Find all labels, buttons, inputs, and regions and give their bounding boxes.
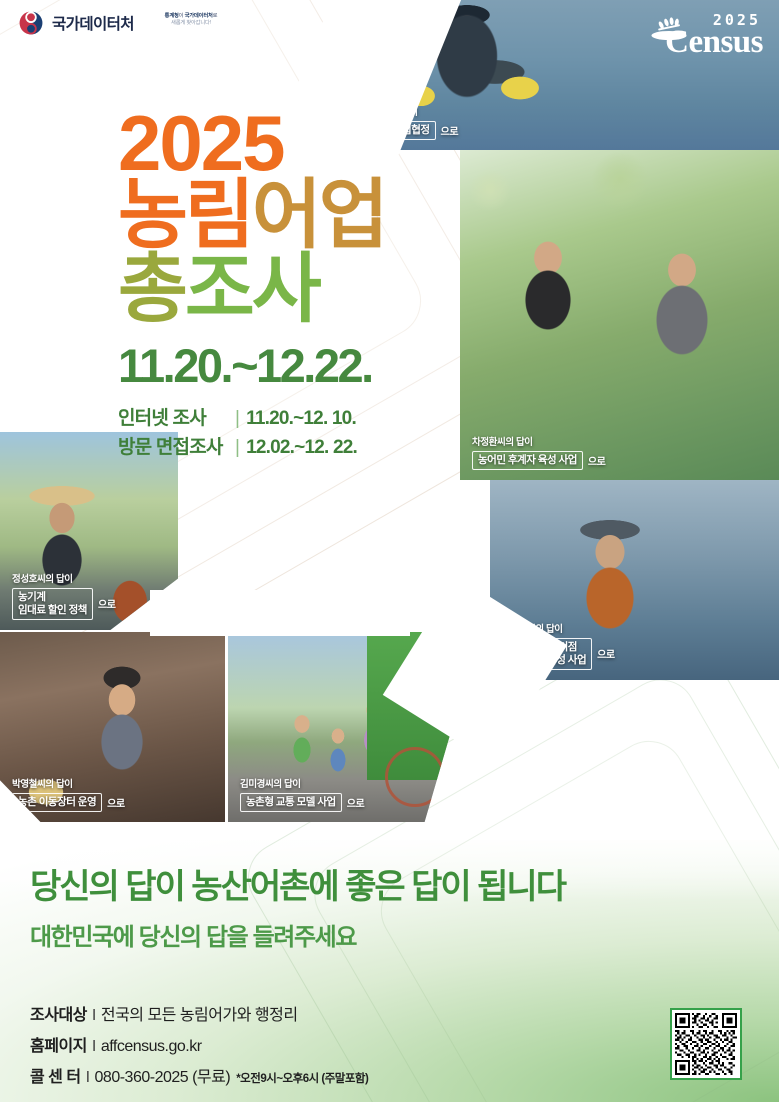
photo-caption: 정성호씨의 답이 농기계 임대료 할인 정책 으로	[12, 571, 116, 620]
headline-char: 사	[252, 254, 319, 326]
footer-row-callcenter: 콜 센 터 I 080-360-2025 (무료) *오전9시~오후6시 (주말…	[30, 1062, 368, 1093]
caption-tail: 으로	[107, 795, 125, 810]
photo-greenhouse-farmers: 차정환씨의 답이 농어민 후계자 육성 사업 으로	[460, 150, 779, 480]
poster-header: 국가데이터처 통계청이 국가데이터처로 새롭게 찾아갑니다! 2025 Cens	[0, 0, 779, 58]
schedule-value: 12.02.~12. 22.	[246, 434, 357, 463]
schedule-separator: |	[235, 405, 239, 434]
caption-person: 차정환씨의 답이	[472, 434, 605, 448]
schedule-separator: |	[235, 434, 239, 463]
tagline-em-2: 국가데이터처	[185, 13, 213, 19]
caption-policy: 수산물 산지 거점 유통센터 육성 사업	[502, 638, 592, 670]
taegeuk-icon	[18, 10, 44, 36]
headline-date-range: 11.20.~12.22.	[118, 338, 386, 393]
footer-label: 조사대상	[30, 1000, 87, 1031]
caption-person: 김미경씨의 답이	[240, 776, 364, 790]
caption-tail: 으로	[441, 123, 459, 138]
footer-info: 조사대상 I 전국의 모든 농림어가와 행정리 홈페이지 I affcensus…	[30, 1000, 368, 1094]
gov-tagline: 통계청이 국가데이터처로 새롭게 찾아갑니다!	[143, 13, 239, 27]
footer-separator: I	[86, 1062, 90, 1093]
caption-person: 김동현씨의 답이	[502, 621, 615, 635]
survey-schedule: 인터넷 조사 | 11.20.~12. 10. 방문 면접조사 | 12.02.…	[118, 405, 386, 462]
schedule-value: 11.20.~12. 10.	[246, 405, 356, 434]
caption-tail: 으로	[347, 795, 365, 810]
tagline-em-1: 통계청	[165, 13, 179, 19]
schedule-row-internet: 인터넷 조사 | 11.20.~12. 10.	[118, 405, 386, 434]
headline-row-sector: 농 림 어 업	[118, 180, 386, 252]
headline-char: 림	[185, 180, 252, 252]
government-logo: 국가데이터처	[18, 10, 134, 36]
photo-senior-fisherman: 김동현씨의 답이 수산물 산지 거점 유통센터 육성 사업 으로	[490, 480, 779, 680]
qr-code-icon[interactable]	[675, 1013, 737, 1075]
schedule-label: 방문 면접조사	[118, 434, 228, 463]
census-word-label: Census	[665, 24, 763, 61]
poster-root: 최정훈씨의 답이 국가간 어업협정 으로 차정환씨의 답이 농어민 후계자 육성…	[0, 0, 779, 1102]
headline-row-census: 총 조 사	[118, 254, 386, 326]
photo-caption: 김미경씨의 답이 농촌형 교통 모델 사업 으로	[240, 776, 364, 812]
gov-tagline-line2: 새롭게 찾아갑니다!	[143, 20, 239, 27]
caption-policy: 농어민 후계자 육성 사업	[472, 451, 583, 470]
footer-website-link[interactable]: affcensus.go.kr	[101, 1031, 202, 1062]
photo-mobile-market: 박영철씨의 답이 농촌 이동장터 운영 으로	[0, 632, 225, 822]
footer-row-website: 홈페이지 I affcensus.go.kr	[30, 1031, 368, 1062]
caption-person: 정성호씨의 답이	[12, 571, 116, 585]
schedule-label: 인터넷 조사	[118, 405, 228, 434]
footer-hours-note: *오전9시~오후6시 (주말포함)	[236, 1068, 368, 1090]
footer-row-target: 조사대상 I 전국의 모든 농림어가와 행정리	[30, 1000, 368, 1031]
tagline-end: 로	[213, 13, 218, 19]
gov-name-label: 국가데이터처	[52, 12, 134, 34]
caption-tail: 으로	[98, 596, 116, 611]
caption-person: 박영철씨의 답이	[12, 776, 125, 790]
footer-label: 홈페이지	[30, 1031, 87, 1062]
caption-tail: 으로	[597, 646, 615, 661]
headline-char: 업	[319, 180, 386, 252]
headline-char: 총	[118, 254, 185, 326]
footer-value: 전국의 모든 농림어가와 행정리	[101, 1000, 298, 1031]
footer-separator: I	[92, 1000, 96, 1031]
headline-char: 어	[252, 180, 319, 252]
slogan-block: 당신의 답이 농산어촌에 좋은 답이 됩니다 대한민국에 당신의 답을 들려주세…	[30, 868, 565, 952]
headline-char: 농	[118, 180, 185, 252]
headline-char: 조	[185, 254, 252, 326]
photo-caption: 김동현씨의 답이 수산물 산지 거점 유통센터 육성 사업 으로	[502, 621, 615, 670]
footer-separator: I	[92, 1031, 96, 1062]
photo-caption: 박영철씨의 답이 농촌 이동장터 운영 으로	[12, 776, 125, 812]
photo-caption: 차정환씨의 답이 농어민 후계자 육성 사업 으로	[472, 434, 605, 470]
footer-label: 콜 센 터	[30, 1062, 81, 1093]
headline-block: 2025 농 림 어 업 총 조 사 11.20.~12.22. 인터넷 조사 …	[118, 108, 386, 462]
footer-phone-number[interactable]: 080-360-2025 (무료)	[95, 1062, 231, 1093]
caption-policy: 농촌형 교통 모델 사업	[240, 793, 342, 812]
schedule-row-interview: 방문 면접조사 | 12.02.~12. 22.	[118, 434, 386, 463]
slogan-main: 당신의 답이 농산어촌에 좋은 답이 됩니다	[30, 868, 565, 907]
caption-policy: 농기계 임대료 할인 정책	[12, 588, 93, 620]
qr-code[interactable]	[670, 1008, 742, 1080]
slogan-sub: 대한민국에 당신의 답을 들려주세요	[30, 917, 565, 952]
headline-year: 2025	[118, 108, 386, 180]
caption-tail: 으로	[588, 453, 606, 468]
